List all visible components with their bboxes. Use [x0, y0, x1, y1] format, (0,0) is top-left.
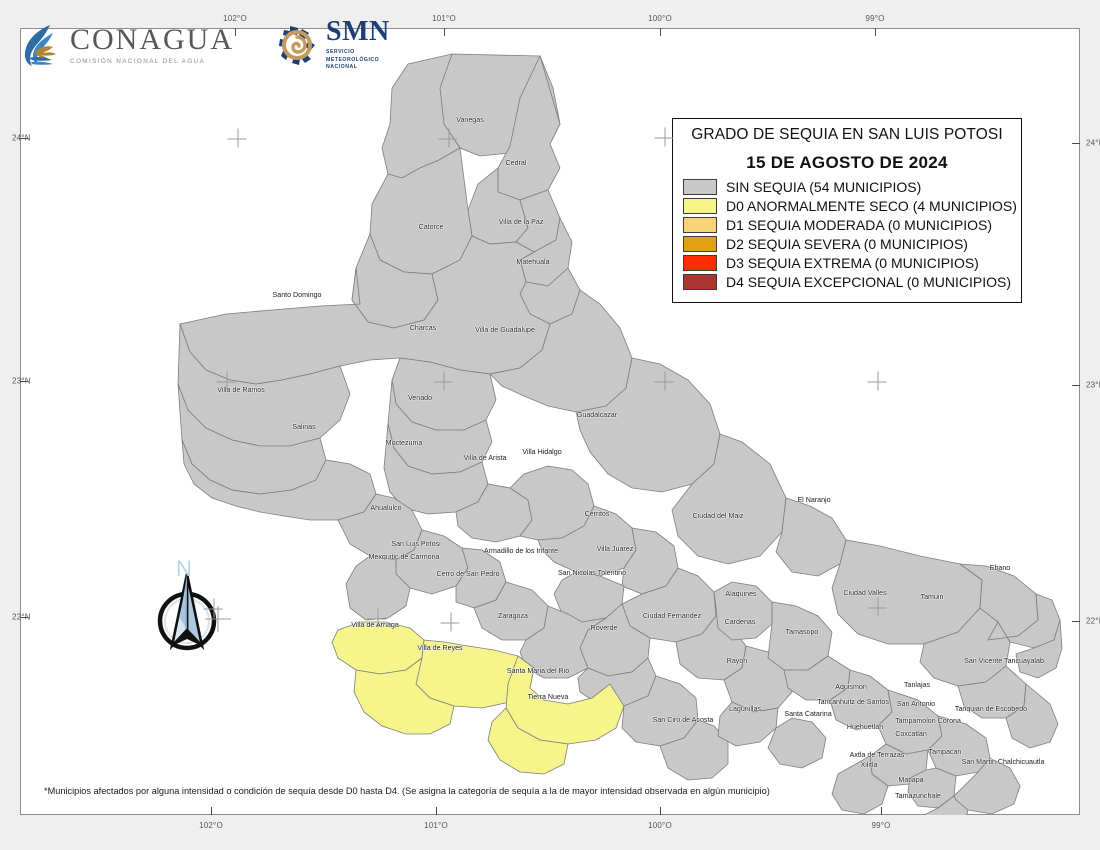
map-legend: GRADO DE SEQUIA EN SAN LUIS POTOSI 15 DE… — [672, 118, 1022, 303]
legend-row: D0 ANORMALMENTE SECO (4 MUNICIPIOS) — [683, 198, 1011, 214]
legend-label: SIN SEQUIA (54 MUNICIPIOS) — [726, 179, 921, 195]
legend-row: D2 SEQUIA SEVERA (0 MUNICIPIOS) — [683, 236, 1011, 252]
longitude-label-bottom: 99°O — [871, 821, 890, 830]
graticule-cross — [655, 128, 674, 147]
legend-swatch — [683, 198, 717, 214]
latitude-label-right: 23°N — [1086, 381, 1100, 390]
graticule-cross — [217, 372, 236, 391]
agency-logos: CONAGUA COMISIÓN NACIONAL DEL AGUA SMN S… — [20, 18, 390, 72]
smn-logo: SMN SERVICIOMETEOROLÓGICONACIONAL — [278, 18, 390, 72]
longitude-label-bottom: 101°O — [424, 821, 448, 830]
legend-swatch — [683, 179, 717, 195]
legend-label: D1 SEQUIA MODERADA (0 MUNICIPIOS) — [726, 217, 992, 233]
legend-swatch — [683, 255, 717, 271]
graticule-tick-right — [1072, 143, 1080, 144]
aztec-spiral-icon — [278, 23, 318, 67]
legend-swatch — [683, 217, 717, 233]
graticule-tick-bottom — [211, 807, 212, 815]
longitude-label-top: 100°O — [648, 14, 672, 23]
longitude-label-top: 99°O — [865, 14, 884, 23]
map-page: VanegasCedralCatorceVilla de la PazMateh… — [0, 0, 1100, 850]
longitude-label-top: 102°O — [223, 14, 247, 23]
graticule-tick-bottom — [660, 807, 661, 815]
graticule-cross — [228, 129, 247, 148]
longitude-label-bottom: 102°O — [199, 821, 223, 830]
graticule-tick-top — [444, 28, 445, 36]
graticule-cross — [441, 613, 460, 632]
longitude-label-bottom: 100°O — [648, 821, 672, 830]
legend-row: D3 SEQUIA EXTREMA (0 MUNICIPIOS) — [683, 255, 1011, 271]
graticule-tick-left — [20, 617, 28, 618]
graticule-tick-left — [20, 381, 28, 382]
legend-swatch — [683, 274, 717, 290]
conagua-subtitle: COMISIÓN NACIONAL DEL AGUA — [70, 58, 234, 65]
graticule-cross — [868, 598, 887, 617]
conagua-logo: CONAGUA COMISIÓN NACIONAL DEL AGUA — [20, 21, 234, 69]
graticule-cross — [434, 372, 453, 391]
graticule-tick-left — [20, 138, 28, 139]
graticule-cross — [368, 609, 387, 628]
water-drop-eagle-icon — [20, 21, 62, 69]
graticule-cross — [204, 599, 223, 618]
map-footnote: *Municipios afectados por alguna intensi… — [44, 786, 770, 796]
graticule-tick-top — [660, 28, 661, 36]
legend-rows: SIN SEQUIA (54 MUNICIPIOS)D0 ANORMALMENT… — [683, 179, 1011, 290]
legend-label: D2 SEQUIA SEVERA (0 MUNICIPIOS) — [726, 236, 968, 252]
legend-title: GRADO DE SEQUIA EN SAN LUIS POTOSI — [683, 126, 1011, 144]
graticule-cross — [439, 129, 458, 148]
legend-swatch — [683, 236, 717, 252]
legend-row: SIN SEQUIA (54 MUNICIPIOS) — [683, 179, 1011, 195]
legend-label: D4 SEQUIA EXCEPCIONAL (0 MUNICIPIOS) — [726, 274, 1011, 290]
graticule-tick-right — [1072, 621, 1080, 622]
longitude-label-top: 101°O — [432, 14, 456, 23]
graticule-tick-bottom — [436, 807, 437, 815]
legend-label: D3 SEQUIA EXTREMA (0 MUNICIPIOS) — [726, 255, 979, 271]
graticule-tick-right — [1072, 385, 1080, 386]
graticule-tick-top — [235, 28, 236, 36]
compass-north-label: N — [176, 556, 192, 582]
legend-row: D4 SEQUIA EXCEPCIONAL (0 MUNICIPIOS) — [683, 274, 1011, 290]
legend-label: D0 ANORMALMENTE SECO (4 MUNICIPIOS) — [726, 198, 1017, 214]
legend-date: 15 DE AGOSTO DE 2024 — [683, 153, 1011, 173]
graticule-tick-top — [875, 28, 876, 36]
smn-wordmark: SMN — [326, 18, 390, 46]
latitude-label-right: 24°N — [1086, 139, 1100, 148]
graticule-tick-bottom — [881, 807, 882, 815]
graticule-cross — [655, 372, 674, 391]
conagua-wordmark: CONAGUA — [70, 25, 234, 55]
smn-subtitle: SERVICIOMETEOROLÓGICONACIONAL — [326, 49, 390, 72]
graticule-cross — [868, 372, 887, 391]
latitude-label-right: 22°N — [1086, 617, 1100, 626]
legend-row: D1 SEQUIA MODERADA (0 MUNICIPIOS) — [683, 217, 1011, 233]
